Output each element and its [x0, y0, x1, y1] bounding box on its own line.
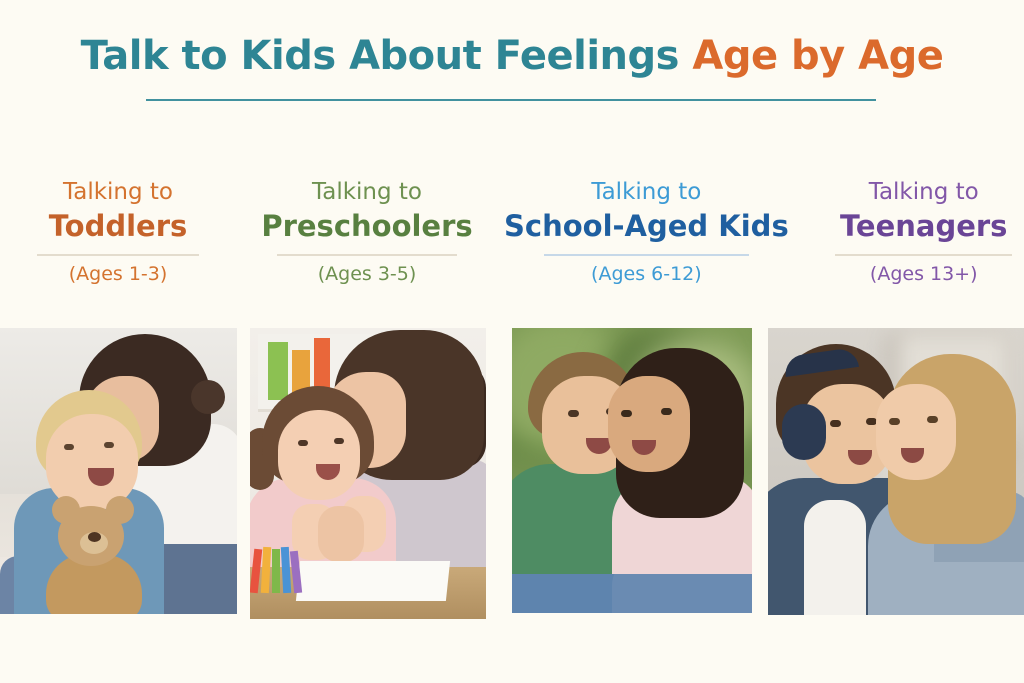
scene-toddler	[0, 328, 237, 614]
column-ages-teenagers: (Ages 13+)	[801, 263, 1024, 285]
scene-preschooler	[250, 328, 486, 619]
column-divider-preschoolers	[277, 254, 457, 256]
column-title-preschoolers: Preschoolers	[242, 208, 492, 246]
photo2-girl-face	[278, 410, 360, 500]
photo1-teddy-nose	[88, 532, 101, 542]
photo2-crayon-green	[272, 549, 280, 593]
photo4-boy-eye-left	[830, 420, 841, 427]
column-ages-school-aged-kids: (Ages 6-12)	[504, 263, 789, 285]
photo4-girl-eye-left	[889, 418, 900, 425]
column-heading-teenagers: Talking to Teenagers (Ages 13+)	[795, 178, 1024, 313]
photo4-headphones-earcup	[782, 404, 826, 460]
column-heading-toddlers: Talking to Toddlers (Ages 1-3)	[0, 178, 236, 313]
column-eyebrow-school-aged-kids: Talking to	[504, 178, 789, 207]
photo1-toddler-eye-left	[64, 444, 74, 450]
column-divider-school-aged-kids	[544, 254, 749, 256]
main-title-text: Talk to Kids About Feelings Age by Age	[0, 34, 1024, 79]
photo1-mother-bun	[191, 380, 225, 414]
page-title: Talk to Kids About Feelings Age by Age	[0, 34, 1024, 79]
column-eyebrow-preschoolers: Talking to	[242, 178, 492, 207]
photo-preschooler-and-mother	[250, 328, 486, 619]
photo3-girl-eye-right	[661, 408, 672, 415]
scene-teenagers	[768, 328, 1024, 615]
photo-school-aged-kids	[512, 328, 752, 613]
photo4-boy-white-tshirt	[804, 500, 866, 615]
scene-school-aged	[512, 328, 752, 613]
column-ages-toddlers: (Ages 1-3)	[6, 263, 230, 285]
photo3-girl-face	[608, 376, 690, 472]
infographic-root: Talk to Kids About Feelings Age by Age T…	[0, 0, 1024, 683]
photo2-book-green	[268, 342, 288, 400]
photo4-girl-eye-right	[927, 416, 938, 423]
column-eyebrow-teenagers: Talking to	[801, 178, 1024, 207]
photo2-girl-eye-left	[298, 440, 308, 446]
column-heading-preschoolers: Talking to Preschoolers (Ages 3-5)	[236, 178, 498, 313]
photo3-boy-eye-left	[568, 410, 579, 417]
column-divider-teenagers	[835, 254, 1012, 256]
photo-teenagers	[768, 328, 1024, 615]
photo2-paper-sheet	[296, 561, 450, 601]
photo2-girl-eye-right	[334, 438, 344, 444]
photo-strip	[0, 328, 1024, 620]
column-eyebrow-toddlers: Talking to	[6, 178, 230, 207]
column-headings-row: Talking to Toddlers (Ages 1-3) Talking t…	[0, 178, 1024, 313]
photo4-girl-face	[876, 384, 956, 480]
photo3-girl-eye-left	[621, 410, 632, 417]
column-divider-toddlers	[37, 254, 198, 256]
column-title-teenagers: Teenagers	[801, 208, 1024, 246]
title-segment-accent: Age by Age	[692, 33, 943, 79]
column-heading-school-aged-kids: Talking to School-Aged Kids (Ages 6-12)	[498, 178, 795, 313]
title-segment-primary: Talk to Kids About Feelings	[81, 33, 693, 79]
column-title-toddlers: Toddlers	[6, 208, 230, 246]
title-underline-rule	[146, 99, 876, 101]
photo2-mother-hand	[318, 506, 364, 562]
column-ages-preschoolers: (Ages 3-5)	[242, 263, 492, 285]
column-title-school-aged-kids: School-Aged Kids	[504, 208, 789, 246]
photo1-toddler-eye-right	[104, 442, 114, 448]
photo-toddler-and-mother	[0, 328, 237, 614]
photo1-toddler-face	[46, 414, 138, 510]
